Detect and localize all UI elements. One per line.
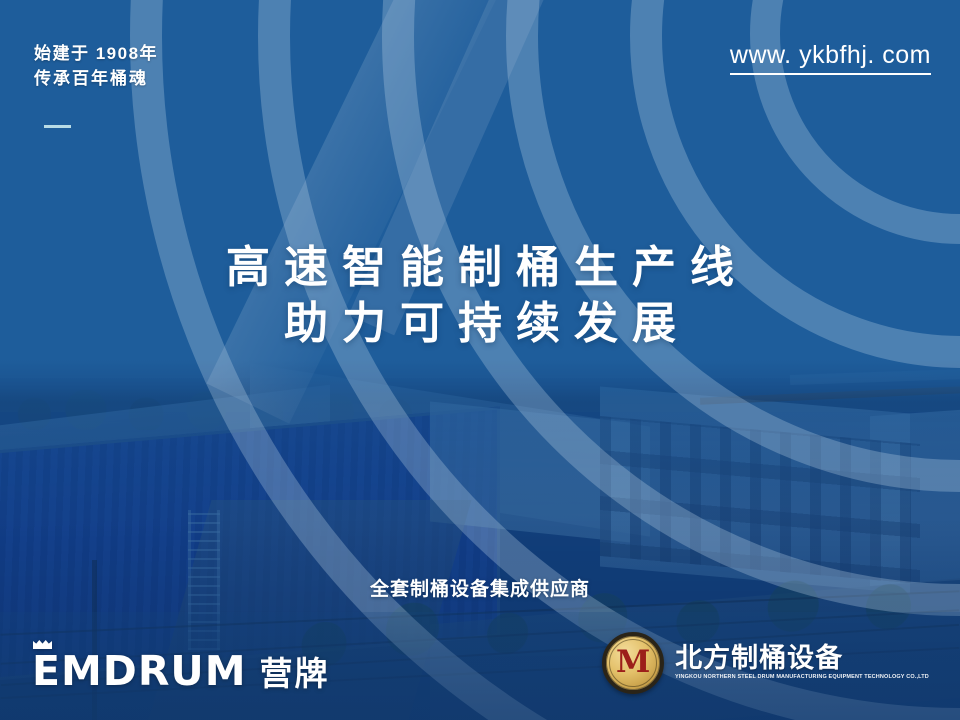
crown-icon	[33, 640, 52, 649]
emdrum-wordmark: EMDRUM	[32, 651, 247, 692]
emdrum-english-text: EMDRUM	[32, 647, 247, 695]
tagline-line-2: 传承百年桶魂	[34, 67, 158, 92]
northern-drum-logo: M 北方制桶设备 YINGKOU NORTHERN STEEL DRUM MAN…	[602, 632, 924, 694]
title-line-1: 高速智能制桶生产线	[0, 240, 960, 296]
sub-caption: 全套制桶设备集成供应商	[0, 574, 960, 601]
emdrum-logo: EMDRUM 营牌	[32, 651, 330, 692]
emdrum-chinese-text: 营牌	[260, 657, 330, 692]
website-url[interactable]: www. ykbfhj. com	[730, 41, 931, 75]
emblem-letter: M	[616, 647, 650, 678]
badge-chinese-name: 北方制桶设备	[675, 645, 924, 672]
badge-text-group: 北方制桶设备 YINGKOU NORTHERN STEEL DRUM MANUF…	[675, 645, 924, 680]
m-emblem-icon: M	[602, 632, 664, 694]
main-title: 高速智能制桶生产线 助力可持续发展	[0, 240, 960, 353]
presentation-slide: 始建于 1908年 传承百年桶魂 www. ykbfhj. com 高速智能制桶…	[0, 0, 960, 720]
badge-english-name: YINGKOU NORTHERN STEEL DRUM MANUFACTURIN…	[675, 675, 929, 680]
accent-dash-icon	[44, 125, 71, 128]
title-line-2: 助力可持续发展	[0, 296, 960, 352]
company-tagline: 始建于 1908年 传承百年桶魂	[34, 42, 158, 91]
tagline-line-1: 始建于 1908年	[34, 42, 158, 67]
